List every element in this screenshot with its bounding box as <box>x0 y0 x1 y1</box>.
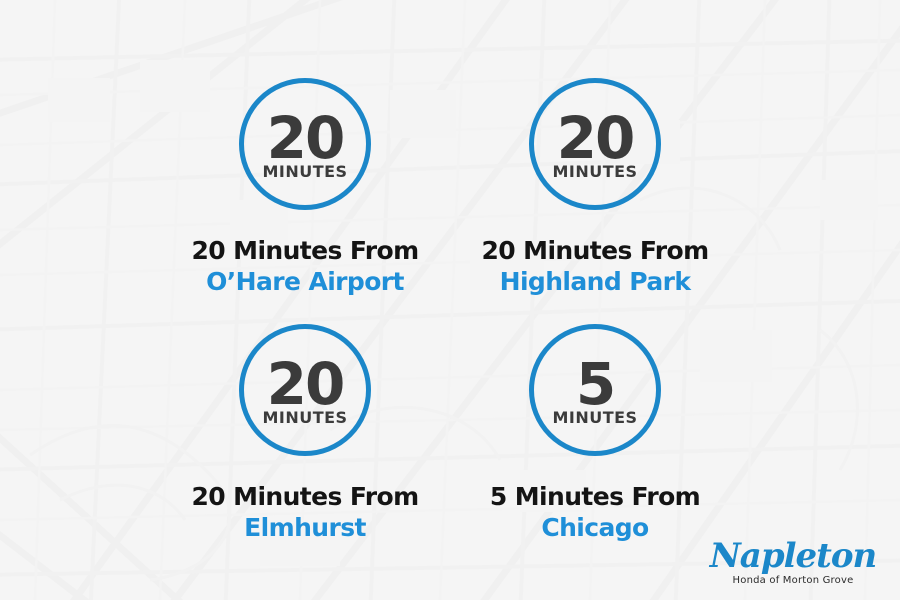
caption-duration: 20 Minutes From <box>425 236 765 267</box>
caption-place: Highland Park <box>425 267 765 298</box>
caption-duration: 20 Minutes From <box>135 482 475 513</box>
logo-wordmark: Napleton <box>708 539 878 573</box>
logo-tagline: Honda of Morton Grove <box>708 576 878 586</box>
card-caption: 5 Minutes From Chicago <box>425 482 765 543</box>
minutes-badge: 20 MINUTES <box>529 78 661 210</box>
badge-number: 20 <box>267 112 344 165</box>
caption-duration: 5 Minutes From <box>425 482 765 513</box>
caption-duration: 20 Minutes From <box>135 236 475 267</box>
badge-unit-label: MINUTES <box>552 164 637 180</box>
minutes-badge: 20 MINUTES <box>239 78 371 210</box>
caption-place: O’Hare Airport <box>135 267 475 298</box>
badge-number: 5 <box>576 358 614 411</box>
proximity-card: 20 MINUTES 20 Minutes From Highland Park <box>425 78 765 297</box>
card-caption: 20 Minutes From O’Hare Airport <box>135 236 475 297</box>
dealer-logo[interactable]: Napleton Honda of Morton Grove <box>708 539 878 586</box>
badge-number: 20 <box>267 358 344 411</box>
card-caption: 20 Minutes From Highland Park <box>425 236 765 297</box>
caption-place: Elmhurst <box>135 513 475 544</box>
badge-unit-label: MINUTES <box>262 164 347 180</box>
card-caption: 20 Minutes From Elmhurst <box>135 482 475 543</box>
proximity-card: 20 MINUTES 20 Minutes From O’Hare Airpor… <box>135 78 475 297</box>
minutes-badge: 5 MINUTES <box>529 324 661 456</box>
proximity-card: 20 MINUTES 20 Minutes From Elmhurst <box>135 324 475 543</box>
badge-number: 20 <box>557 112 634 165</box>
proximity-card-grid: 20 MINUTES 20 Minutes From O’Hare Airpor… <box>0 0 900 600</box>
minutes-badge: 20 MINUTES <box>239 324 371 456</box>
proximity-card: 5 MINUTES 5 Minutes From Chicago <box>425 324 765 543</box>
badge-unit-label: MINUTES <box>552 410 637 426</box>
badge-unit-label: MINUTES <box>262 410 347 426</box>
